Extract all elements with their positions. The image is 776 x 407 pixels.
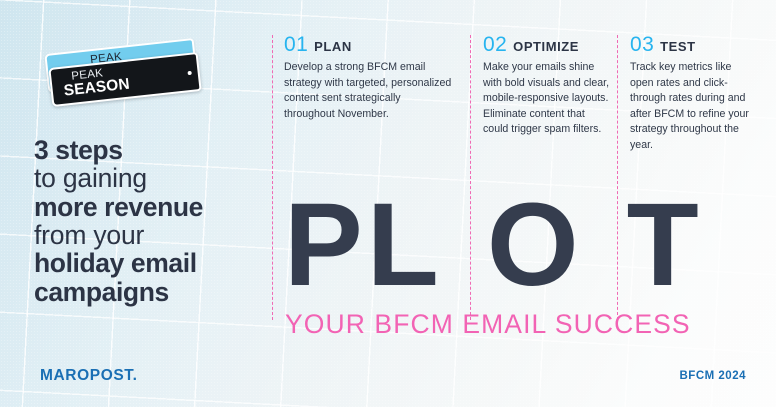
headline-line-6: campaigns [34, 278, 249, 306]
maropost-logo-dot: . [133, 367, 138, 384]
step-2-body: Make your emails shine with bold visuals… [483, 60, 613, 138]
headline-line-2: to gaining [34, 164, 249, 192]
plot-letter-o: O [487, 186, 579, 304]
step-2-heading: 02 OPTIMIZE [483, 34, 613, 55]
step-1-number: 01 [284, 34, 308, 55]
headline-line-3: more revenue [34, 193, 249, 221]
plot-letter-p: P [284, 186, 363, 304]
tag-hole-icon [187, 70, 191, 74]
step-column-2: 02 OPTIMIZE Make your emails shine with … [483, 34, 613, 138]
step-column-3: 03 TEST Track key metrics like open rate… [630, 34, 754, 153]
wordmark-subtitle: YOUR BFCM EMAIL SUCCESS [285, 311, 691, 338]
step-3-number: 03 [630, 34, 654, 55]
step-3-heading: 03 TEST [630, 34, 754, 55]
headline-line-1: 3 steps [34, 136, 249, 164]
campaign-label: BFCM 2024 [680, 371, 747, 383]
headline-line-4: from your [34, 221, 249, 249]
step-column-1: 01 PLAN Develop a strong BFCM email stra… [284, 34, 452, 122]
maropost-logo: MAROPOST. [40, 368, 138, 384]
step-1-body: Develop a strong BFCM email strategy wit… [284, 60, 452, 122]
step-2-number: 02 [483, 34, 507, 55]
step-2-title: OPTIMIZE [513, 40, 579, 53]
plot-wordmark: P L O T [284, 186, 699, 304]
infographic-canvas: PEAK PERFORMANCE PEAK SEASON 3 steps to … [0, 0, 776, 407]
maropost-logo-text: MAROPOST [40, 367, 133, 384]
step-3-title: TEST [660, 40, 695, 53]
peak-season-badge: PEAK PERFORMANCE PEAK SEASON [44, 18, 194, 84]
step-1-title: PLAN [314, 40, 352, 53]
headline-line-5: holiday email [34, 249, 249, 277]
plot-letter-l: L [367, 186, 439, 304]
step-1-heading: 01 PLAN [284, 34, 452, 55]
step-3-body: Track key metrics like open rates and cl… [630, 60, 754, 153]
headline: 3 steps to gaining more revenue from you… [34, 136, 249, 306]
divider-1 [272, 35, 273, 320]
plot-letter-t: T [627, 186, 699, 304]
